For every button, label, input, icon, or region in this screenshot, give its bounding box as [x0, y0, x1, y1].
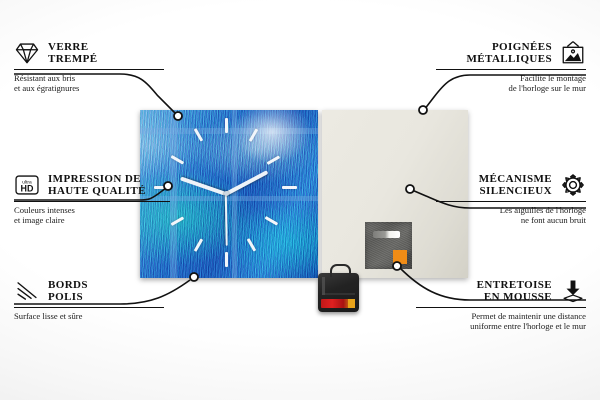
- movement-texture: [322, 277, 355, 295]
- gear-icon: [560, 172, 586, 198]
- callout-title: ENTRETOISE EN MOUSSE: [477, 279, 552, 304]
- callout-rule: [436, 201, 586, 202]
- callout-poignees: POIGNÉES MÉTALLIQUES Facilite le montage…: [436, 40, 586, 93]
- callout-rule: [14, 201, 170, 202]
- clock-movement: [318, 273, 359, 312]
- diamond-icon: [14, 40, 40, 66]
- ultra-hd-icon: ultra HD: [14, 172, 40, 198]
- callout-entretoise: ENTRETOISE EN MOUSSE Permet de maintenir…: [416, 278, 586, 331]
- callout-title: MÉCANISME SILENCIEUX: [479, 173, 552, 198]
- callout-rule: [436, 69, 586, 70]
- callout-subtitle: Les aiguilles de l'horloge ne font aucun…: [436, 205, 586, 225]
- infographic-canvas: VERRE TREMPÉ Résistant aux bris et aux é…: [0, 0, 600, 400]
- polished-edges-icon: [14, 278, 40, 304]
- foam-spacer: [393, 250, 407, 264]
- callout-subtitle: Facilite le montage de l'horloge sur le …: [436, 73, 586, 93]
- callout-mecanisme: MÉCANISME SILENCIEUX Les aiguilles de l'…: [436, 172, 586, 225]
- svg-text:HD: HD: [21, 184, 34, 194]
- callout-impression: ultra HD IMPRESSION DE HAUTE QUALITÉ Cou…: [14, 172, 170, 225]
- battery-terminal: [348, 299, 355, 308]
- callout-subtitle: Couleurs intenses et image claire: [14, 205, 170, 225]
- hanger-loop-icon: [330, 264, 351, 277]
- clock-face-highlight: [233, 110, 311, 164]
- callout-title: BORDS POLIS: [48, 279, 88, 304]
- foam-spacer-arrow-icon: [560, 278, 586, 304]
- hour-tick: [282, 186, 297, 189]
- callout-rule: [416, 307, 586, 308]
- hour-tick: [225, 118, 228, 133]
- callout-title: POIGNÉES MÉTALLIQUES: [467, 41, 553, 66]
- callout-title: VERRE TREMPÉ: [48, 41, 97, 66]
- callout-subtitle: Permet de maintenir une distance uniform…: [416, 311, 586, 331]
- callout-title: IMPRESSION DE HAUTE QUALITÉ: [48, 173, 146, 198]
- callout-subtitle: Surface lisse et sûre: [14, 311, 164, 321]
- wall-mount-frame-icon: [560, 40, 586, 66]
- product-image: [140, 110, 468, 278]
- callout-rule: [14, 307, 164, 308]
- callout-rule: [14, 69, 164, 70]
- callout-verre-trempe: VERRE TREMPÉ Résistant aux bris et aux é…: [14, 40, 164, 93]
- hour-tick: [225, 252, 228, 267]
- keyhole-slot: [373, 231, 400, 238]
- hands-center-cap: [224, 191, 229, 196]
- callout-subtitle: Résistant aux bris et aux égratignures: [14, 73, 164, 93]
- callout-bords-polis: BORDS POLIS Surface lisse et sûre: [14, 278, 164, 321]
